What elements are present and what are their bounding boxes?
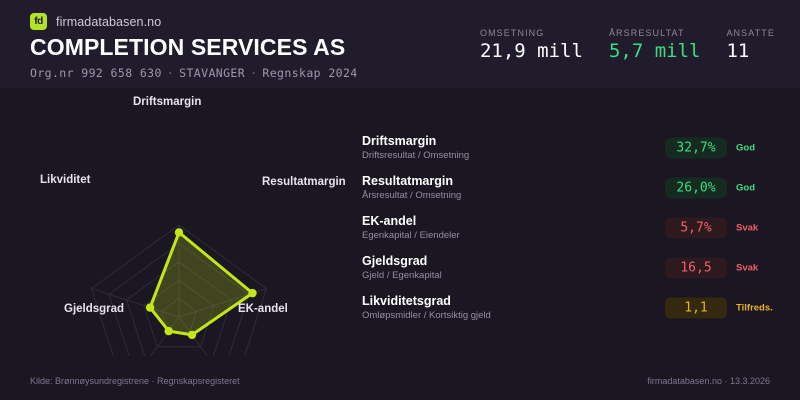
metric-labels: Driftsmargin Driftsresultat / Omsetning	[362, 134, 469, 161]
metric-value-group: 16,5 Svak	[665, 258, 782, 279]
metric-formula: Årsresultat / Omsetning	[362, 191, 461, 202]
header-stats: OMSETNING 21,9 mill ÅRSRESULTAT 5,7 mill…	[480, 28, 775, 61]
stat-label: ANSATTE	[726, 28, 775, 38]
metric-value-group: 5,7% Svak	[665, 218, 782, 239]
metric-title: EK-andel	[362, 214, 460, 228]
meta-separator-2: ·	[245, 66, 262, 80]
status-badge: God	[736, 143, 782, 154]
radar-chart-svg	[0, 88, 355, 356]
radar-data-point	[146, 303, 154, 311]
brand[interactable]: fd firmadatabasen.no	[30, 13, 161, 30]
stat-value: 21,9 mill	[480, 42, 583, 61]
company-orgnr: Org.nr 992 658 630	[30, 66, 162, 80]
company-meta: Org.nr 992 658 630·STAVANGER·Regnskap 20…	[30, 66, 358, 80]
radar-chart: Driftsmargin Resultatmargin EK-andel Gje…	[0, 88, 355, 356]
metric-formula: Omløpsmidler / Kortsiktig gjeld	[362, 311, 491, 322]
company-city: STAVANGER	[179, 66, 245, 80]
radar-axis-label-likviditet: Likviditet	[40, 174, 90, 186]
radar-axis-label-ek-andel: EK-andel	[238, 303, 288, 315]
metric-title: Gjeldsgrad	[362, 254, 442, 268]
metric-value-group: 32,7% God	[665, 138, 782, 159]
stat-value: 5,7 mill	[609, 42, 701, 61]
metric-value-pill: 16,5	[665, 258, 727, 279]
metric-formula: Gjeld / Egenkapital	[362, 271, 442, 282]
stat-value: 11	[726, 42, 775, 61]
footer-credit: firmadatabasen.no · 13.3.2026	[647, 376, 770, 386]
status-badge: Svak	[736, 223, 782, 234]
status-badge: Svak	[736, 263, 782, 274]
stat-arsresultat: ÅRSRESULTAT 5,7 mill	[609, 28, 701, 61]
stat-label: ÅRSRESULTAT	[609, 28, 701, 38]
metric-labels: EK-andel Egenkapital / Eiendeler	[362, 214, 460, 241]
metric-row-driftsmargin: Driftsmargin Driftsresultat / Omsetning …	[362, 128, 782, 168]
metric-value-pill: 26,0%	[665, 178, 727, 199]
company-period: Regnskap 2024	[262, 66, 357, 80]
metrics-list: Driftsmargin Driftsresultat / Omsetning …	[362, 128, 782, 328]
stat-ansatte: ANSATTE 11	[726, 28, 775, 61]
status-badge: God	[736, 183, 782, 194]
metric-title: Likviditetsgrad	[362, 294, 491, 308]
metric-value-pill: 1,1	[665, 298, 727, 319]
radar-data-point	[248, 289, 256, 297]
stat-label: OMSETNING	[480, 28, 583, 38]
metric-title: Resultatmargin	[362, 174, 461, 188]
radar-axis-label-driftsmargin: Driftsmargin	[133, 96, 201, 108]
radar-data-point	[165, 327, 173, 335]
firmadatabasen-logo-icon: fd	[30, 13, 47, 30]
radar-data-area	[150, 232, 252, 335]
metric-row-resultatmargin: Resultatmargin Årsresultat / Omsetning 2…	[362, 168, 782, 208]
metric-row-likviditetsgrad: Likviditetsgrad Omløpsmidler / Kortsikti…	[362, 288, 782, 328]
metric-title: Driftsmargin	[362, 134, 469, 148]
radar-axis-label-gjeldsgrad: Gjeldsgrad	[64, 303, 124, 315]
status-badge: Tilfreds.	[736, 303, 782, 314]
metric-row-gjeldsgrad: Gjeldsgrad Gjeld / Egenkapital 16,5 Svak	[362, 248, 782, 288]
footer: Kilde: Brønnøysundregistrene · Regnskaps…	[0, 366, 800, 400]
page-title: COMPLETION SERVICES AS	[30, 34, 345, 61]
metric-formula: Driftsresultat / Omsetning	[362, 151, 469, 162]
header: fd firmadatabasen.no COMPLETION SERVICES…	[0, 0, 800, 88]
meta-separator-1: ·	[162, 66, 179, 80]
stat-omsetning: OMSETNING 21,9 mill	[480, 28, 583, 61]
metric-value-group: 1,1 Tilfreds.	[665, 298, 782, 319]
radar-data-point	[175, 228, 183, 236]
metric-value-pill: 5,7%	[665, 218, 727, 239]
metric-labels: Resultatmargin Årsresultat / Omsetning	[362, 174, 461, 201]
metric-value-group: 26,0% God	[665, 178, 782, 199]
radar-axis-label-resultatmargin: Resultatmargin	[262, 176, 346, 188]
metric-row-ek-andel: EK-andel Egenkapital / Eiendeler 5,7% Sv…	[362, 208, 782, 248]
metric-labels: Gjeldsgrad Gjeld / Egenkapital	[362, 254, 442, 281]
metric-formula: Egenkapital / Eiendeler	[362, 231, 460, 242]
brand-name: firmadatabasen.no	[56, 15, 161, 29]
footer-source: Kilde: Brønnøysundregistrene · Regnskaps…	[30, 376, 240, 386]
radar-data-point	[188, 331, 196, 339]
report-card: fd firmadatabasen.no COMPLETION SERVICES…	[0, 0, 800, 400]
metric-labels: Likviditetsgrad Omløpsmidler / Kortsikti…	[362, 294, 491, 321]
metric-value-pill: 32,7%	[665, 138, 727, 159]
